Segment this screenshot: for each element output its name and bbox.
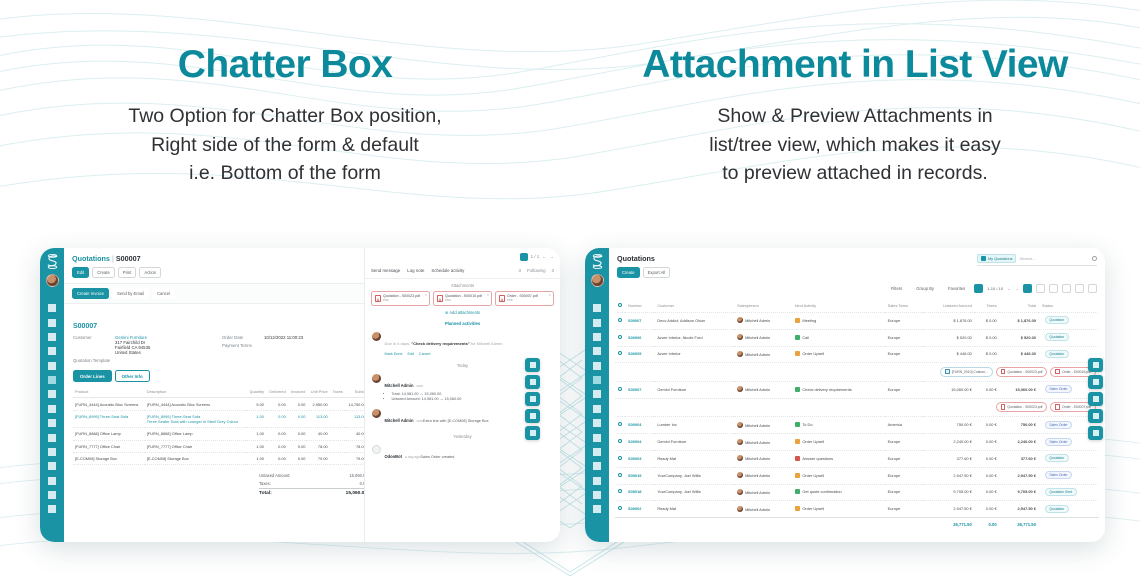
sidebar-item-crm[interactable] — [593, 362, 601, 370]
star-icon-button[interactable] — [1088, 358, 1103, 372]
list-view-header: Quotations Create Export All My Quotatio… — [609, 248, 1105, 278]
field-payment-terms-label: Payment Terms — [222, 343, 264, 348]
expand-icon-button[interactable] — [1088, 392, 1103, 406]
search-icon-button[interactable] — [525, 375, 540, 389]
sidebar-item-employees[interactable] — [593, 462, 601, 470]
attachment-type: PDF — [383, 299, 420, 303]
sidebar-item-purchase[interactable] — [593, 434, 601, 442]
status-badge: Sales Order — [1045, 438, 1072, 446]
col-salesperson[interactable]: Salesperson — [734, 300, 792, 311]
followers-count[interactable]: 3 — [519, 268, 521, 274]
attachment-chip-name: [FURN_0010] Custom... — [952, 370, 988, 374]
sidebar-item-home[interactable] — [593, 304, 601, 312]
col-select-all[interactable] — [615, 300, 625, 311]
print-button[interactable]: Print — [118, 267, 137, 278]
sidebar-item-website[interactable] — [48, 448, 56, 456]
cell-total: $ 446.00 — [1000, 346, 1039, 362]
table-row[interactable]: [FURN_4444] Acoustic Bloc Screens[FURN_4… — [73, 398, 371, 410]
avatar — [737, 455, 743, 461]
favorites-button[interactable]: Favorites — [943, 283, 970, 294]
row-checkbox[interactable] — [615, 484, 625, 500]
activity-links: Mark Done Edit Cancel — [385, 352, 554, 356]
pdf-file-icon — [1055, 369, 1060, 375]
avatar — [737, 489, 743, 495]
cell-next-activity: Order Upsell — [792, 500, 885, 516]
cell-untaxed-amount: 2,947.50 € — [923, 467, 974, 483]
col-description[interactable]: Description — [145, 386, 247, 398]
cell-sales-team: Europe — [885, 312, 924, 328]
planned-activities-title: Planned activities — [365, 317, 560, 329]
table-row[interactable]: S00002Ready MatMitchell AdminOrder Upsel… — [615, 500, 1099, 516]
breadcrumb-separator: | — [112, 254, 114, 263]
sidebar-item-inventory[interactable] — [593, 405, 601, 413]
send-message-button[interactable]: Send message — [371, 268, 400, 274]
cell-untaxed-amount: $ 446.00 — [923, 346, 974, 362]
row-checkbox[interactable] — [615, 312, 625, 328]
message-author: Mitchell Adminnow — [385, 418, 423, 423]
cell-customer: Azure Interior — [654, 346, 734, 362]
status-badge: Quotation — [1045, 333, 1069, 341]
pdf-file-icon — [1001, 369, 1006, 375]
sidebar-item-invoicing[interactable] — [593, 390, 601, 398]
table-row[interactable]: [FURN_8999] Three-Seat Sofa[FURN_8999] T… — [73, 410, 371, 427]
form-fields: Customer Gemini Furniture 317 Fairchild … — [73, 335, 371, 365]
app-logo-icon — [589, 253, 606, 270]
col-number[interactable]: Number — [625, 300, 654, 311]
cell-salesperson: Mitchell Admin — [734, 329, 792, 345]
col-total[interactable]: Total — [1000, 300, 1039, 311]
order-line-invoiced: 0.00 — [288, 428, 308, 440]
sidebar-item-sales[interactable] — [593, 376, 601, 384]
status-badge: Quotation — [1045, 316, 1069, 324]
order-lines-header-row: Product Description Quantity Delivered I… — [73, 386, 371, 398]
activity-avatar — [372, 332, 381, 341]
expand-icon-button[interactable] — [525, 392, 540, 406]
field-customer-value[interactable]: Gemini Furniture 317 Fairchild Dr Fairfi… — [115, 335, 150, 355]
sidebar-item-apps[interactable] — [593, 491, 601, 499]
order-line-description: [FURN_4444] Acoustic Bloc Screens — [145, 398, 247, 410]
order-line-quantity: 5.00 — [246, 398, 266, 410]
sidebar-item-purchase[interactable] — [48, 434, 56, 442]
activity-body: Due in 4 days: "Check delivery requireme… — [385, 332, 554, 356]
col-invoiced[interactable]: Invoiced — [288, 386, 308, 398]
pdf-file-icon — [1055, 404, 1060, 410]
attachment-chip-name: Quotation - S00023.pdf — [1007, 370, 1042, 374]
star-icon — [1093, 362, 1099, 368]
field-order-date-value[interactable]: 10/12/2022 11:00:23 — [264, 335, 303, 340]
status-badge: Quotation — [1045, 454, 1069, 462]
cancel-button[interactable]: Cancel — [152, 288, 175, 299]
table-row[interactable]: S00007Deco Addict, Addison OlsonMitchell… — [615, 312, 1099, 328]
sidebar-item-crm[interactable] — [48, 362, 56, 370]
chatter-action-row: Send message Log note Schedule activity … — [365, 264, 560, 279]
field-quotation-template-label: Quotation Template — [73, 358, 115, 363]
upsell-icon — [795, 506, 800, 511]
order-line-quantity: 1.00 — [246, 428, 266, 440]
message-time: a day ago — [405, 455, 420, 459]
message-content: Extra line with [E-COM08] Storage Box — [423, 419, 489, 423]
kanban-view-button[interactable] — [1036, 284, 1045, 293]
avatar — [372, 409, 381, 418]
table-row[interactable]: S00007Gemini FurnitureMitchell AdminChec… — [615, 381, 1099, 397]
cell-number: S00006 — [625, 329, 654, 345]
search-facet-my-quotations[interactable]: My Quotations — [977, 254, 1016, 263]
cell-sales-team: Europe — [885, 329, 924, 345]
cell-status: Quotation — [1039, 450, 1099, 466]
attachment-chip[interactable]: Quotation - S00023.pdf — [996, 402, 1048, 412]
edit-button[interactable]: Edit — [72, 267, 89, 278]
pager-next-button[interactable]: → — [1015, 286, 1019, 291]
field-order-date: Order Date 10/12/2022 11:00:23 — [222, 335, 371, 340]
tab-other-info[interactable]: Other Info — [115, 370, 150, 382]
cell-next-activity: Call — [792, 329, 885, 345]
pager-prev-button[interactable]: ← — [1007, 286, 1011, 291]
col-taxes[interactable]: Taxes — [975, 300, 1000, 311]
form-sheet: S00007 Customer Gemini Furniture 317 Fai… — [64, 318, 380, 498]
cell-taxes: $ 0.00 — [975, 329, 1000, 345]
cell-sales-team: Europe — [885, 450, 924, 466]
table-row[interactable]: S00004Lumber IncMitchell AdminTo DoAmeri… — [615, 416, 1099, 432]
taxes-label: Taxes: — [259, 481, 271, 486]
header-column-attachment-list-view: Attachment in List View Show & Preview A… — [570, 0, 1140, 210]
untaxed-amount-row: Untaxed Amount: 15,060.00 € — [259, 471, 371, 479]
order-line-delivered: 0.00 — [266, 452, 288, 464]
avatar — [737, 317, 743, 323]
cell-salesperson: Mitchell Admin — [734, 312, 792, 328]
customer-country: United States — [115, 350, 150, 355]
meeting-icon — [795, 318, 800, 323]
cell-next-activity: To Do — [792, 416, 885, 432]
filter-icon — [981, 256, 986, 261]
expand-icon — [530, 396, 536, 402]
col-next-activity[interactable]: Next Activity — [792, 300, 885, 311]
activity-due: Due in 4 days: — [385, 341, 411, 346]
sidebar-item-recruitment[interactable] — [593, 477, 601, 485]
cell-sales-team: Europe — [885, 484, 924, 500]
page-subtitle-attachment-list-view: Show & Preview Attachments in list/tree … — [570, 102, 1140, 187]
breadcrumb-record: S00007 — [116, 254, 141, 263]
order-line-taxes — [330, 452, 345, 464]
list-view-button[interactable] — [1023, 284, 1032, 293]
star-icon-button[interactable] — [525, 358, 540, 372]
attachment-chips: Quotation - S00023.pdfOrder - S00007.pdf — [618, 402, 1096, 412]
screenshot-mockup-list-view: Quotations Create Export All My Quotatio… — [585, 248, 1105, 542]
row-checkbox[interactable] — [615, 329, 625, 345]
plus-circle-icon: ⊕ — [445, 310, 448, 315]
cell-status: Quotation — [1039, 312, 1099, 328]
order-line-product: [E-COM08] Storage Box — [73, 452, 145, 464]
col-customer[interactable]: Customer — [654, 300, 734, 311]
avatar[interactable] — [591, 274, 604, 287]
cell-untaxed-amount: 9,705.00 € — [923, 484, 974, 500]
table-row[interactable]: S00005Azure InteriorMitchell AdminOrder … — [615, 346, 1099, 362]
breadcrumb-app[interactable]: Quotations — [72, 254, 110, 263]
print-icon-button[interactable] — [1088, 409, 1103, 423]
footer-grand-total: 36,771.50 — [1000, 517, 1039, 530]
search-input[interactable]: Search... — [1019, 256, 1035, 261]
calendar-icon — [795, 387, 800, 392]
schedule-activity-button[interactable]: Schedule activity — [431, 268, 464, 274]
attachment-type: PDF — [445, 299, 482, 303]
form-view-body: Quotations | S00007 Edit Create Print Ac… — [64, 248, 560, 542]
grid-icon-button[interactable] — [1088, 426, 1103, 440]
cell-total: $ 520.00 — [1000, 329, 1039, 345]
cell-sales-team: Europe — [885, 381, 924, 397]
cell-number: S00003 — [625, 450, 654, 466]
grid-icon-button[interactable] — [525, 426, 540, 440]
create-button[interactable]: Create — [617, 267, 640, 278]
sidebar-item-settings[interactable] — [593, 505, 601, 513]
upsell-icon — [795, 351, 800, 356]
attachment-list: Quotation - S00023.pdfPDF×Quotation - S0… — [365, 291, 560, 306]
chatter-toggle-icon[interactable] — [520, 253, 528, 261]
chatter-message: OdooBota day agoSales Order created — [365, 442, 560, 466]
page-title-chatter-box: Chatter Box — [0, 44, 570, 86]
attachment-chip[interactable]: Quotation - S00023.pdf — [996, 367, 1048, 377]
attachment-name: Quotation - S00010.pdfPDF — [445, 294, 482, 302]
app-logo-icon — [44, 253, 61, 270]
table-row[interactable]: S00019YourCompany, Joel WillisMitchell A… — [615, 467, 1099, 483]
cell-untaxed-amount: $ 1,876.00 — [923, 312, 974, 328]
export-all-button[interactable]: Export All — [643, 267, 671, 278]
sidebar-item-invoicing[interactable] — [48, 390, 56, 398]
search-facet-label: My Quotations — [988, 257, 1012, 261]
order-line-delivered: 0.00 — [266, 428, 288, 440]
order-line-product: [FURN_8888] Office Lamp — [73, 428, 145, 440]
attachment-name: Order - S00007.pdfPDF — [507, 294, 538, 302]
list-header-left: Quotations Create Export All — [617, 254, 670, 278]
tab-order-lines[interactable]: Order Lines — [73, 370, 112, 382]
attachment-card[interactable]: Quotation - S00010.pdfPDF× — [433, 291, 492, 306]
avatar — [737, 422, 743, 428]
print-icon — [530, 413, 536, 419]
attachment-row: [FURN_0010] Custom...Quotation - S00023.… — [615, 362, 1099, 380]
group-by-button[interactable]: Group By — [911, 283, 939, 294]
table-row[interactable]: S00006Azure Interior, Nicole FordMitchel… — [615, 329, 1099, 345]
order-line-description: [FURN_8888] Office Lamp — [145, 428, 247, 440]
cell-customer: Gemini Furniture — [654, 381, 734, 397]
search-icon — [1093, 379, 1099, 385]
cell-taxes: 0.00 € — [975, 433, 1000, 449]
avatar — [737, 351, 743, 357]
status-badge: Sales Order — [1045, 471, 1072, 479]
app-sidebar-left[interactable] — [40, 248, 64, 542]
sidebar-item-contacts[interactable] — [48, 347, 56, 355]
sidebar-item-manufacturing[interactable] — [593, 419, 601, 427]
sidebar-item-sales[interactable] — [48, 376, 56, 384]
table-row[interactable]: [FURN_8888] Office Lamp[FURN_8888] Offic… — [73, 428, 371, 440]
pager-prev-icon[interactable]: ← — [542, 254, 546, 260]
col-status[interactable]: Status — [1039, 300, 1099, 311]
col-quantity[interactable]: Quantity — [246, 386, 266, 398]
sidebar-item-employees[interactable] — [48, 462, 56, 470]
send-by-email-button[interactable]: Send by Email — [112, 288, 149, 299]
avatar — [737, 334, 743, 340]
pdf-file-icon — [375, 295, 381, 303]
table-row[interactable]: [FURN_7777] Office Chair[FURN_7777] Offi… — [73, 440, 371, 452]
row-checkbox[interactable] — [615, 346, 625, 362]
col-unit-price[interactable]: Unit Price — [307, 386, 329, 398]
row-checkbox[interactable] — [615, 467, 625, 483]
message-line: Extra line with [E-COM08] Storage Box — [423, 419, 489, 423]
taxes-row: Taxes: 0.00 € — [259, 479, 371, 487]
search-bar[interactable]: My Quotations Search... — [977, 254, 1097, 266]
attachment-cell: [FURN_0010] Custom...Quotation - S00023.… — [615, 362, 1099, 380]
sidebar-item-inventory[interactable] — [48, 405, 56, 413]
cell-next-activity: Order Upsell — [792, 467, 885, 483]
sidebar-item-recruitment[interactable] — [48, 477, 56, 485]
table-row[interactable]: S00018YourCompany, Joel WillisMitchell A… — [615, 484, 1099, 500]
sidebar-item-home[interactable] — [48, 304, 56, 312]
attachment-chip[interactable]: [FURN_0010] Custom... — [940, 367, 993, 377]
col-sales-team[interactable]: Sales Team — [885, 300, 924, 311]
pdf-file-icon — [499, 295, 505, 303]
col-delivered[interactable]: Delivered — [266, 386, 288, 398]
cell-customer: Azure Interior, Nicole Ford — [654, 329, 734, 345]
cell-number: S00005 — [625, 346, 654, 362]
order-line-unit-price: 40.00 — [307, 428, 329, 440]
order-line-quantity: 1.00 — [246, 440, 266, 452]
order-line-delivered: 0.00 — [266, 410, 288, 427]
row-checkbox[interactable] — [615, 416, 625, 432]
table-row[interactable]: S00004Gemini FurnitureMitchell AdminOrde… — [615, 433, 1099, 449]
grid-icon — [530, 430, 536, 436]
row-checkbox[interactable] — [615, 450, 625, 466]
cell-next-activity: Order Upsell — [792, 346, 885, 362]
sidebar-item-settings[interactable] — [48, 505, 56, 513]
activity-view-button[interactable] — [1088, 284, 1097, 293]
table-row[interactable]: [E-COM08] Storage Box[E-COM08] Storage B… — [73, 452, 371, 464]
message-author: OdooBota day ago — [385, 454, 421, 459]
following-button[interactable]: Following — [527, 268, 546, 274]
sidebar-item-manufacturing[interactable] — [48, 419, 56, 427]
order-line-description: [E-COM08] Storage Box — [145, 452, 247, 464]
cell-untaxed-amount: 2,240.00 € — [923, 433, 974, 449]
sidebar-item-apps[interactable] — [48, 491, 56, 499]
table-row[interactable]: S00003Ready MatMitchell AdminAnswer ques… — [615, 450, 1099, 466]
followers-badge[interactable]: 3 — [552, 268, 554, 274]
order-line-product: [FURN_8999] Three-Seat Sofa — [73, 410, 145, 427]
pdf-file-icon — [437, 295, 443, 303]
create-button[interactable]: Create — [92, 267, 115, 278]
order-line-product: [FURN_7777] Office Chair — [73, 440, 145, 452]
close-icon[interactable]: × — [487, 293, 489, 297]
message-time: now — [416, 384, 422, 388]
action-button[interactable]: Action — [139, 267, 161, 278]
row-checkbox[interactable] — [615, 433, 625, 449]
order-line-unit-price: 79.00 — [307, 452, 329, 464]
total-label: Total: — [259, 491, 272, 496]
attachment-chip-name: Quotation - S00023.pdf — [1007, 405, 1042, 409]
sidebar-item-discuss[interactable] — [48, 319, 56, 327]
status-badge: Quotation — [1045, 350, 1069, 358]
cell-number: S00007 — [625, 312, 654, 328]
sidebar-item-website[interactable] — [593, 448, 601, 456]
mark-done-link[interactable]: Mark Done — [385, 352, 403, 356]
pager-next-icon[interactable]: → — [550, 254, 554, 260]
upsell-icon — [795, 473, 800, 478]
avatar[interactable] — [46, 274, 59, 287]
close-icon[interactable]: × — [425, 293, 427, 297]
cell-total: 2,947.50 € — [1000, 500, 1039, 516]
pivot-view-button[interactable] — [1062, 284, 1071, 293]
order-line-product: [FURN_4444] Acoustic Bloc Screens — [73, 398, 145, 410]
graph-view-button[interactable] — [1075, 284, 1084, 293]
cell-taxes: 0.00 € — [975, 484, 1000, 500]
footer-untaxed-total: 36,771.50 — [923, 517, 974, 530]
cell-salesperson: Mitchell Admin — [734, 416, 792, 432]
order-line-taxes — [330, 440, 345, 452]
sidebar-item-calendar[interactable] — [48, 333, 56, 341]
print-icon — [1093, 413, 1099, 419]
field-payment-terms: Payment Terms — [222, 343, 371, 348]
attachment-chip-name: Order - S00007.pdf — [1062, 405, 1091, 409]
attachment-chip-name: Order - S00015.pdf — [1062, 370, 1091, 374]
order-line-unit-price: 78.00 — [307, 440, 329, 452]
follower-controls: 3 Following 3 — [519, 268, 554, 274]
sidebar-item-calendar[interactable] — [593, 333, 601, 341]
floating-tool-strip-right — [1088, 358, 1103, 440]
attachment-card[interactable]: Order - S00007.pdfPDF× — [495, 291, 554, 306]
cancel-activity-link[interactable]: Cancel — [419, 352, 430, 356]
col-taxes[interactable]: Taxes — [330, 386, 345, 398]
cell-total: 377.60 € — [1000, 450, 1039, 466]
log-note-button[interactable]: Log note — [407, 268, 424, 274]
attachments-section-title: Attachments — [365, 279, 560, 291]
floating-tool-strip-left — [525, 358, 540, 440]
print-icon-button[interactable] — [525, 409, 540, 423]
cell-salesperson: Mitchell Admin — [734, 433, 792, 449]
order-line-delivered: 0.00 — [266, 398, 288, 410]
close-icon[interactable]: × — [549, 293, 551, 297]
col-untaxed-amount[interactable]: Untaxed Amount — [923, 300, 974, 311]
row-checkbox[interactable] — [615, 500, 625, 516]
search-icon-button[interactable] — [1088, 375, 1103, 389]
activity-title: Due in 4 days: "Check delivery requireme… — [385, 341, 503, 346]
row-checkbox[interactable] — [615, 381, 625, 397]
order-line-invoiced: 0.00 — [288, 410, 308, 427]
edit-activity-link[interactable]: Edit — [408, 352, 414, 356]
calendar-view-button[interactable] — [1049, 284, 1058, 293]
add-attachments-button[interactable]: ⊕ Add attachments — [365, 306, 560, 317]
field-customer-label: Customer — [73, 335, 115, 355]
cell-salesperson: Mitchell Admin — [734, 467, 792, 483]
col-product[interactable]: Product — [73, 386, 145, 398]
cell-next-activity: Order Upsell — [792, 433, 885, 449]
attachment-card[interactable]: Quotation - S00023.pdfPDF× — [371, 291, 430, 306]
app-sidebar-right[interactable] — [585, 248, 609, 542]
header-column-chatter-box: Chatter Box Two Option for Chatter Box p… — [0, 0, 570, 210]
field-customer: Customer Gemini Furniture 317 Fairchild … — [73, 335, 222, 355]
cell-number: S00002 — [625, 500, 654, 516]
cell-total: 750.00 € — [1000, 416, 1039, 432]
expand-icon — [1093, 396, 1099, 402]
sidebar-item-discuss[interactable] — [593, 319, 601, 327]
list-header-row: Number Customer Salesperson Next Activit… — [615, 300, 1099, 311]
cell-salesperson: Mitchell Admin — [734, 346, 792, 362]
settings-toggle-button[interactable] — [974, 284, 983, 293]
cell-number: S00018 — [625, 484, 654, 500]
filters-button[interactable]: Filters — [886, 283, 907, 294]
activity-assignee: for Mitchell Admin — [471, 341, 503, 346]
cell-salesperson: Mitchell Admin — [734, 484, 792, 500]
order-line-delivered: 0.00 — [266, 440, 288, 452]
calendar-icon — [795, 489, 800, 494]
cell-salesperson: Mitchell Admin — [734, 450, 792, 466]
sidebar-item-contacts[interactable] — [593, 347, 601, 355]
create-invoice-button[interactable]: Create Invoice — [72, 288, 109, 299]
search-icon[interactable] — [1092, 256, 1097, 261]
